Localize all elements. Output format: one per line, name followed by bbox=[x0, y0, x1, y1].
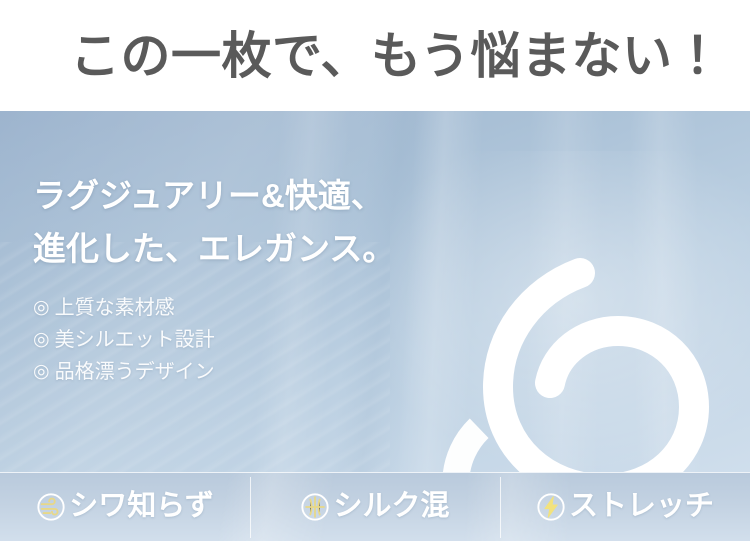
feature-bar: シワ知らず シルク混 ストレッチ bbox=[0, 472, 750, 542]
hero-copy: ラグジュアリー&快適、 進化した、エレガンス。 ◎ 上質な素材感 ◎ 美シルエッ… bbox=[33, 169, 463, 394]
list-item-label: 上質な素材感 bbox=[55, 298, 175, 318]
feature-label: シルク混 bbox=[333, 492, 449, 521]
feature-label: ストレッチ bbox=[569, 492, 714, 521]
list-item: ◎ 美シルエット設計 bbox=[33, 330, 463, 350]
feature-label: シワ知らず bbox=[69, 492, 213, 521]
spiral-swirl-logo bbox=[428, 251, 718, 472]
promo-banner: この一枚で、もう悩まない！ ラグジュアリー&快適、 進化した、エレガンス。 ◎ … bbox=[0, 0, 750, 551]
wind-swirl-icon bbox=[36, 492, 66, 522]
feature-item-wrinkle-free: シワ知らず bbox=[0, 473, 250, 542]
sparkle-silk-icon bbox=[300, 492, 330, 522]
list-item-label: 品格漂うデザイン bbox=[55, 362, 215, 382]
feature-item-stretch: ストレッチ bbox=[500, 473, 750, 542]
headline-line-2: 進化した、エレガンス。 bbox=[33, 222, 463, 275]
double-circle-icon: ◎ bbox=[33, 330, 50, 349]
hero-section: ラグジュアリー&快適、 進化した、エレガンス。 ◎ 上質な素材感 ◎ 美シルエッ… bbox=[0, 111, 750, 472]
double-circle-icon: ◎ bbox=[33, 362, 50, 381]
list-item: ◎ 上質な素材感 bbox=[33, 298, 463, 318]
page-title: この一枚で、もう悩まない！ bbox=[70, 31, 723, 81]
feature-item-silk-blend: シルク混 bbox=[250, 473, 500, 542]
benefit-list: ◎ 上質な素材感 ◎ 美シルエット設計 ◎ 品格漂うデザイン bbox=[33, 298, 463, 382]
list-item: ◎ 品格漂うデザイン bbox=[33, 362, 463, 382]
list-item-label: 美シルエット設計 bbox=[55, 330, 215, 350]
header-band: この一枚で、もう悩まない！ bbox=[0, 0, 750, 111]
lightning-bolt-icon bbox=[536, 492, 566, 522]
bottom-strip bbox=[0, 541, 750, 551]
headline-line-1: ラグジュアリー&快適、 bbox=[33, 169, 463, 222]
double-circle-icon: ◎ bbox=[33, 298, 50, 317]
